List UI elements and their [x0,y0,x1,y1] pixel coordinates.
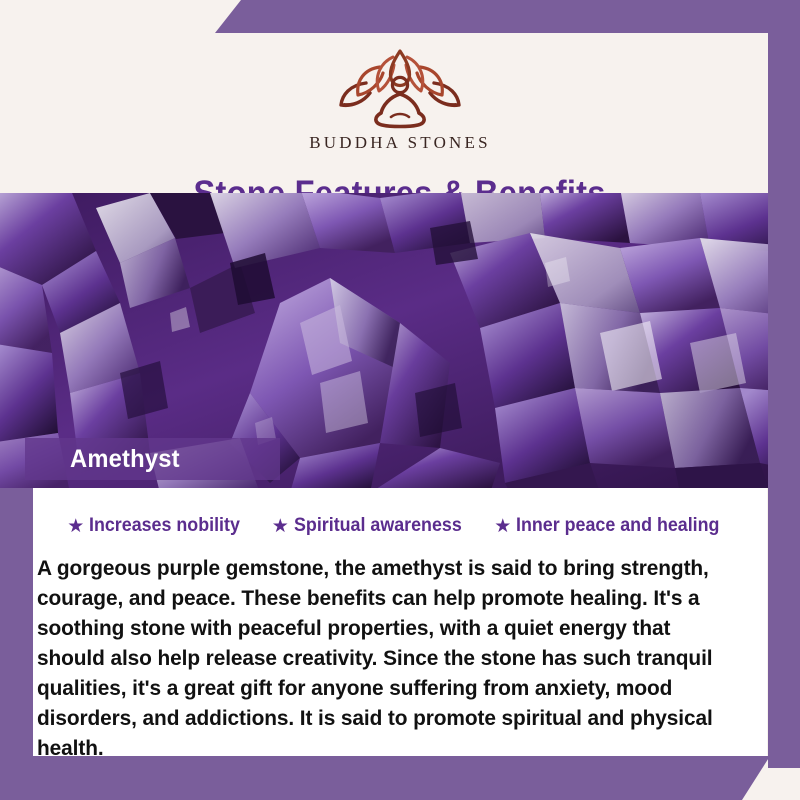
brand-logo: BUDDHA STONES [33,47,767,153]
benefit-label: Spiritual awareness [294,515,462,537]
page-title: Stone Features & Benefits [194,174,606,193]
frame-left-bar [0,488,33,800]
benefit-label: Increases nobility [89,515,240,537]
star-icon: ★ [494,517,511,536]
frame-top-bar [215,0,800,33]
stone-description: A gorgeous purple gemstone, the amethyst… [37,553,741,763]
frame-right-bar [768,0,800,768]
benefit-label: Inner peace and healing [516,515,719,537]
hero-image: Amethyst [0,193,800,488]
brand-name: BUDDHA STONES [309,133,491,153]
title-band: Stone Features & Benefits [33,174,767,193]
star-icon: ★ [272,517,289,536]
benefit-item-1: ★ Increases nobility [67,515,250,537]
stone-info-card: BUDDHA STONES Stone Features & Benefits [0,0,800,800]
benefits-list: ★ Increases nobility ★ Spiritual awarene… [33,488,767,537]
benefit-item-3: ★ Inner peace and healing [494,515,733,537]
star-icon: ★ [67,517,84,536]
stone-name: Amethyst [70,445,180,474]
frame-bottom-bar [0,756,770,800]
lotus-meditation-figure-icon [336,47,464,129]
header: BUDDHA STONES Stone Features & Benefits [33,33,767,193]
content-area: ★ Increases nobility ★ Spiritual awarene… [33,488,767,756]
benefit-item-2: ★ Spiritual awareness [272,515,473,537]
stone-name-badge: Amethyst [25,438,280,480]
